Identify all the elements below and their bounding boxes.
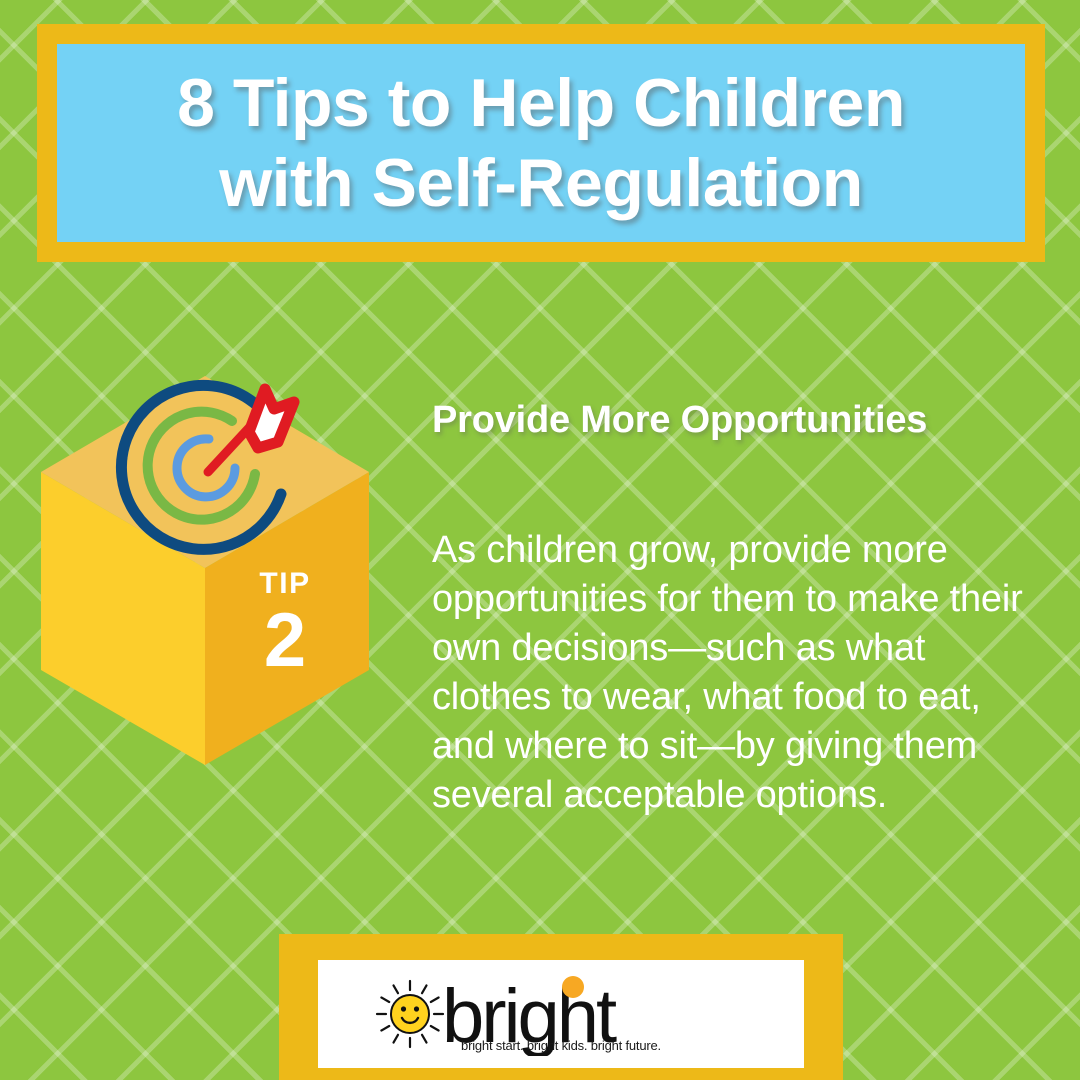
sun-smile-icon xyxy=(377,981,443,1047)
logo-tagline: bright start. bright kids. bright future… xyxy=(461,1038,661,1053)
sun-eye-left xyxy=(401,1006,406,1011)
tip-label: TIP xyxy=(259,567,310,600)
title-card: 8 Tips to Help Children with Self-Regula… xyxy=(37,24,1045,262)
tip-heading: Provide More Opportunities xyxy=(432,398,1042,444)
tip-body-text: As children grow, provide more opportuni… xyxy=(432,526,1042,820)
logo-plate: bright bright start. bright kids. bright… xyxy=(318,960,804,1068)
logo-i-dot xyxy=(562,976,584,998)
sun-disc xyxy=(391,995,429,1033)
page-title-line-2: with Self-Regulation xyxy=(219,143,863,223)
infographic-poster: 8 Tips to Help Children with Self-Regula… xyxy=(0,0,1080,1080)
title-panel: 8 Tips to Help Children with Self-Regula… xyxy=(57,44,1025,242)
tip-copy-block: Provide More Opportunities As children g… xyxy=(432,398,1042,820)
tip-number: 2 xyxy=(264,598,306,683)
sun-eye-right xyxy=(414,1006,419,1011)
tip-cube-illustration: TIP 2 xyxy=(30,340,400,780)
logo-frame: bright bright start. bright kids. bright… xyxy=(279,934,843,1080)
page-title-line-1: 8 Tips to Help Children xyxy=(177,63,905,143)
